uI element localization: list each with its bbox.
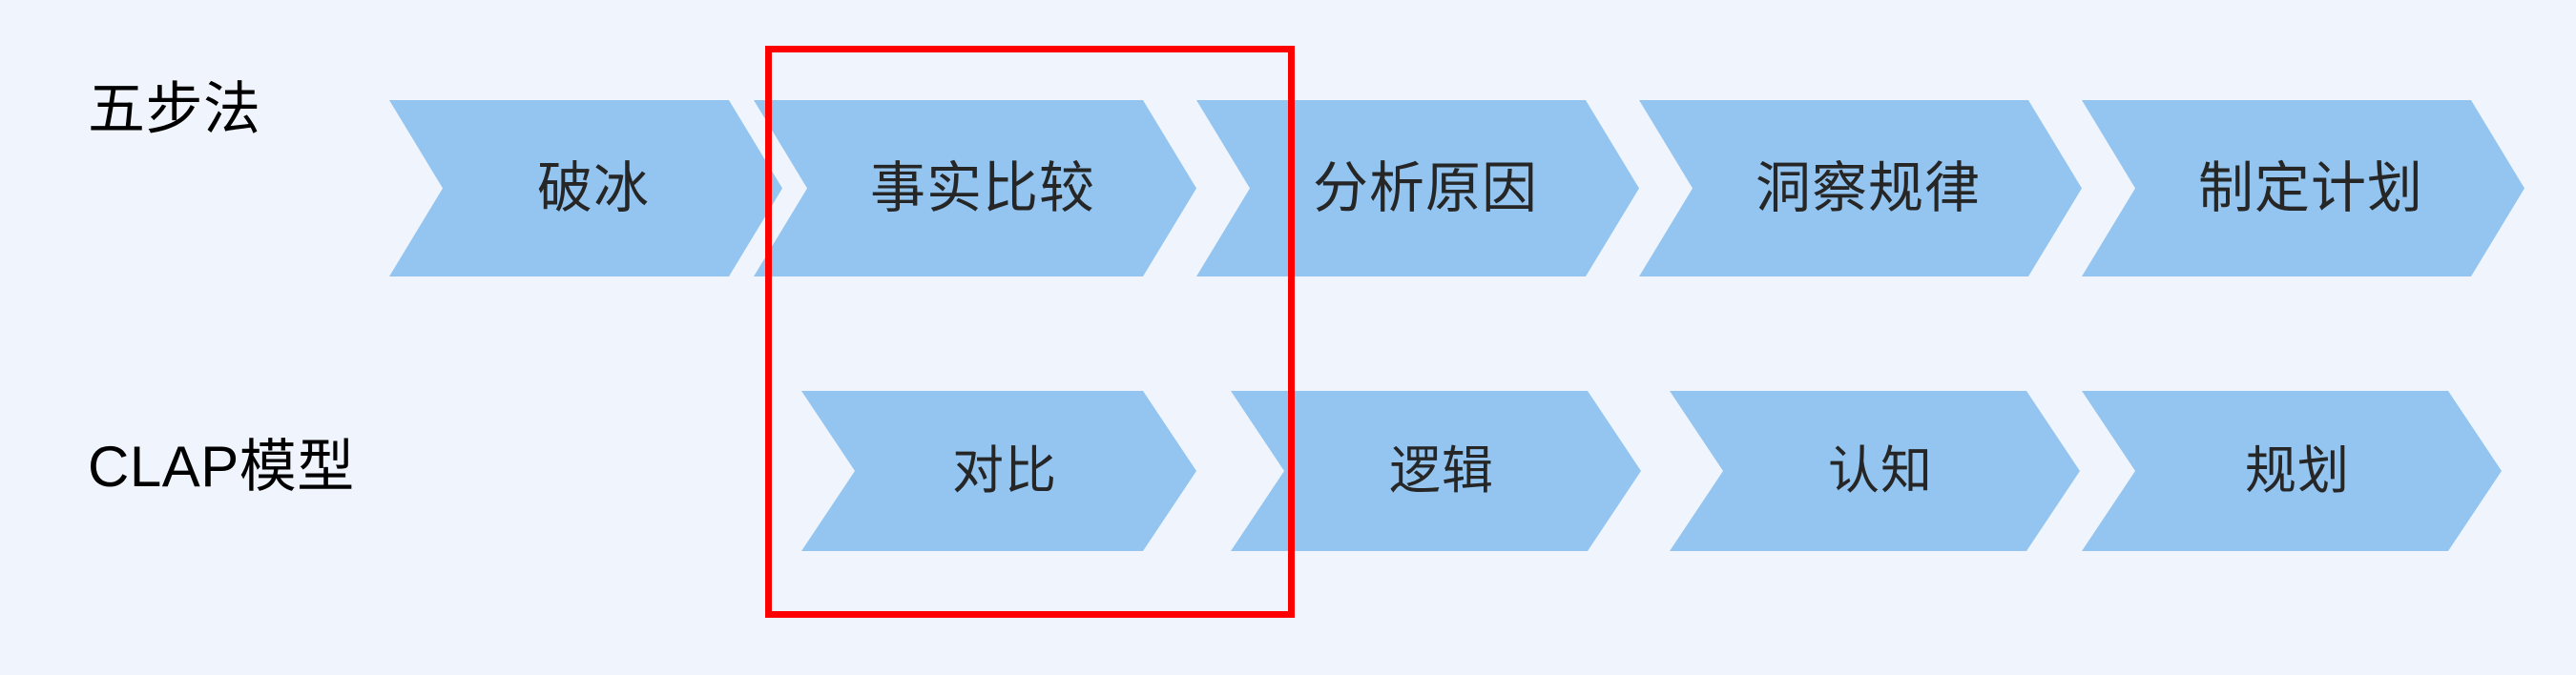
chevron-clap-3-renzhi[interactable]: 认知 — [1670, 391, 2080, 551]
chevron-clap-4-guihua[interactable]: 规划 — [2082, 391, 2502, 551]
chevron-step-3-fenxiyuanyin[interactable]: 分析原因 — [1196, 100, 1639, 276]
chevron-label: 事实比较 — [870, 161, 1095, 216]
chevron-row-clap-model: 对比 逻辑 认知 规划 — [0, 391, 2576, 551]
chevron-step-1-pobing[interactable]: 破冰 — [389, 100, 782, 276]
chevron-label: 洞察规律 — [1755, 161, 1981, 216]
chevron-label: 对比 — [952, 445, 1057, 497]
chevron-label: 认知 — [1828, 445, 1933, 497]
chevron-label: 逻辑 — [1389, 445, 1494, 497]
process-diagram: 五步法 破冰 事实比较 分析原因 洞察规律 制定计划 CLAP模型 对比 逻辑 … — [0, 0, 2576, 675]
chevron-label: 规划 — [2245, 445, 2350, 497]
chevron-label: 破冰 — [537, 161, 650, 216]
chevron-step-4-dongchaguilv[interactable]: 洞察规律 — [1639, 100, 2082, 276]
chevron-clap-1-duibi[interactable]: 对比 — [801, 391, 1196, 551]
chevron-step-5-zhidingjihua[interactable]: 制定计划 — [2082, 100, 2524, 276]
chevron-clap-2-luoji[interactable]: 逻辑 — [1231, 391, 1641, 551]
chevron-step-2-shishibijiao[interactable]: 事实比较 — [754, 100, 1196, 276]
chevron-label: 分析原因 — [1313, 161, 1538, 216]
chevron-row-five-step: 破冰 事实比较 分析原因 洞察规律 制定计划 — [0, 100, 2576, 276]
chevron-label: 制定计划 — [2198, 161, 2423, 216]
